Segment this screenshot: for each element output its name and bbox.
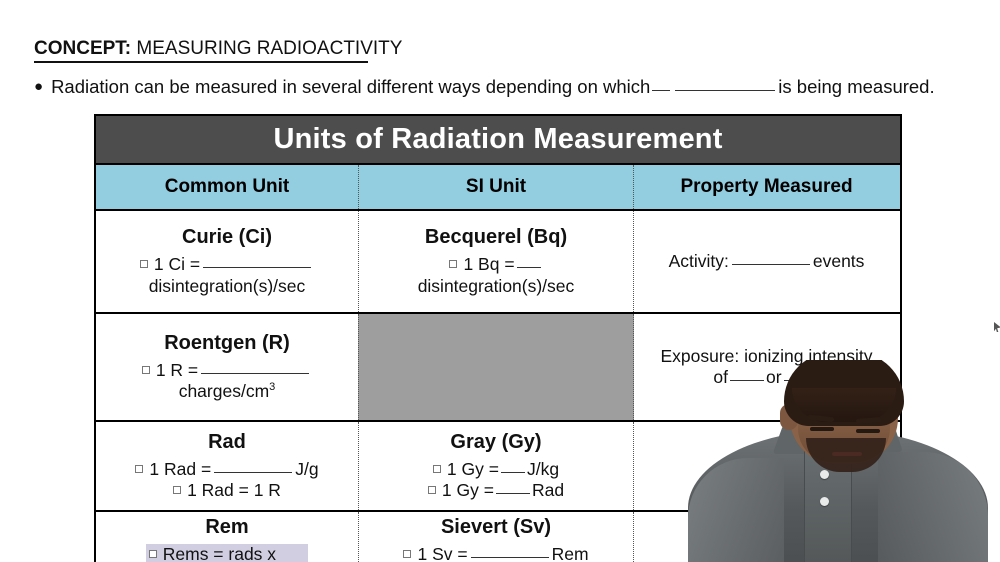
concept-label: CONCEPT: xyxy=(34,38,131,59)
blank-line xyxy=(496,493,530,494)
unit-name: Rem xyxy=(205,516,248,539)
concept-title: MEASURING RADIOACTIVITY xyxy=(131,38,402,59)
slide-canvas: CONCEPT: MEASURING RADIOACTIVITY ●Radiat… xyxy=(0,0,1000,562)
unit-name: Curie (Ci) xyxy=(182,226,272,249)
unit-name: Roentgen (R) xyxy=(164,332,290,355)
cell-common-unit: Roentgen (R) 1 R = charges/cm3 xyxy=(96,314,358,420)
table-header-row: Common Unit SI Unit Property Measured xyxy=(96,165,900,211)
column-header-common-unit: Common Unit xyxy=(96,165,358,209)
unit-detail: 1 Bq = xyxy=(449,254,542,275)
unit-detail-highlighted: Rems = rads x xyxy=(146,544,308,562)
unit-detail: charges/cm3 xyxy=(179,381,276,402)
unit-detail: 1 Rad = 1 R xyxy=(173,480,281,501)
bullet-text-after: is being measured. xyxy=(778,76,934,97)
square-bullet-icon xyxy=(173,486,181,494)
unit-name: Becquerel (Bq) xyxy=(425,226,567,249)
unit-detail: 1 Gy =J/kg xyxy=(433,459,559,480)
bullet-statement: ●Radiation can be measured in several di… xyxy=(34,76,935,98)
cell-si-unit-blank xyxy=(358,314,634,420)
table-row: Rem Rems = rads x Sievert (Sv) 1 Sv =Rem xyxy=(96,512,900,562)
blank-line xyxy=(501,472,525,473)
cell-si-unit: Gray (Gy) 1 Gy =J/kg 1 Gy =Rad xyxy=(358,422,634,510)
property-text: ofor xyxy=(713,367,819,388)
unit-detail: 1 Gy =Rad xyxy=(428,480,564,501)
concept-heading: CONCEPT: MEASURING RADIOACTIVITY xyxy=(34,38,402,60)
unit-name: Rad xyxy=(208,431,246,454)
superscript-three: 3 xyxy=(269,381,275,393)
mouse-cursor-icon xyxy=(994,322,1000,332)
square-bullet-icon xyxy=(433,465,441,473)
blank-line xyxy=(201,373,309,374)
square-bullet-icon xyxy=(449,260,457,268)
unit-name: Gray (Gy) xyxy=(450,431,541,454)
cell-si-unit: Sievert (Sv) 1 Sv =Rem xyxy=(358,512,634,562)
blank-line xyxy=(471,557,549,558)
bullet-dot-icon: ● xyxy=(34,78,43,95)
cell-common-unit: Rad 1 Rad =J/g 1 Rad = 1 R xyxy=(96,422,358,510)
blank-line xyxy=(730,380,764,381)
unit-detail: 1 Rad =J/g xyxy=(135,459,318,480)
square-bullet-icon xyxy=(135,465,143,473)
table-row: Curie (Ci) 1 Ci = disintegration(s)/sec … xyxy=(96,211,900,314)
unit-detail: 1 Ci = xyxy=(140,254,314,275)
column-header-si-unit: SI Unit xyxy=(358,165,634,209)
column-header-property-measured: Property Measured xyxy=(634,165,899,209)
cell-property-measured: Energy xyxy=(634,422,899,510)
cell-property-measured xyxy=(634,512,899,562)
unit-detail: 1 Sv =Rem xyxy=(403,544,588,562)
blank-line xyxy=(732,264,810,265)
blank-line xyxy=(214,472,292,473)
unit-name: Sievert (Sv) xyxy=(441,516,551,539)
unit-detail: disintegration(s)/sec xyxy=(418,276,575,297)
concept-underline xyxy=(34,61,368,63)
blank-line xyxy=(517,267,541,268)
cell-property-measured: Exposure: ionizing intensity ofor xyxy=(634,314,899,420)
units-table: Units of Radiation Measurement Common Un… xyxy=(94,114,902,562)
unit-detail: disintegration(s)/sec xyxy=(149,276,306,297)
property-text: Energy xyxy=(739,455,794,476)
property-text: Exposure: ionizing intensity xyxy=(660,346,872,367)
unit-detail: 1 R = xyxy=(142,360,312,381)
square-bullet-icon xyxy=(140,260,148,268)
square-bullet-icon xyxy=(428,486,436,494)
table-row: Roentgen (R) 1 R = charges/cm3 Exposure:… xyxy=(96,314,900,422)
square-bullet-icon xyxy=(149,550,157,558)
square-bullet-icon xyxy=(403,550,411,558)
blank-line xyxy=(784,380,818,381)
square-bullet-icon xyxy=(142,366,150,374)
table-row: Rad 1 Rad =J/g 1 Rad = 1 R Gray (Gy) 1 G… xyxy=(96,422,900,512)
blank-line xyxy=(203,267,311,268)
cell-si-unit: Becquerel (Bq) 1 Bq = disintegration(s)/… xyxy=(358,211,634,312)
blank-short xyxy=(652,90,670,91)
property-text: Activity:events xyxy=(669,251,865,272)
cell-common-unit: Curie (Ci) 1 Ci = disintegration(s)/sec xyxy=(96,211,358,312)
bullet-text-before: Radiation can be measured in several dif… xyxy=(51,76,650,97)
cell-property-measured: Activity:events xyxy=(634,211,899,312)
cell-common-unit: Rem Rems = rads x xyxy=(96,512,358,562)
blank-medium xyxy=(675,90,775,91)
table-title: Units of Radiation Measurement xyxy=(96,116,900,165)
